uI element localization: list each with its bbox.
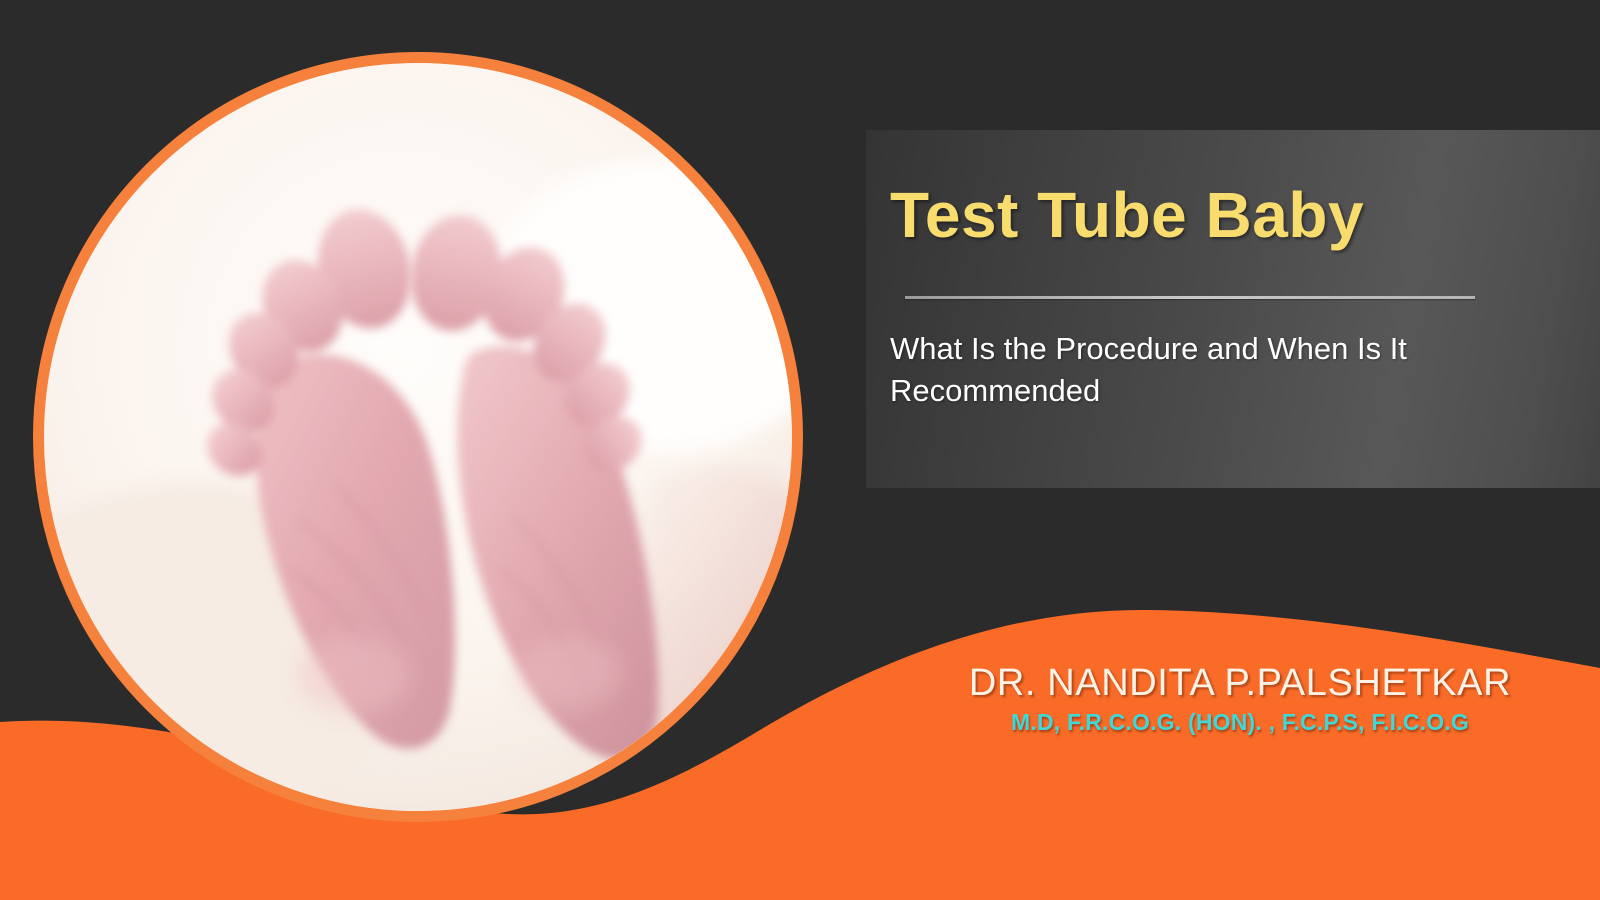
headline-panel: Test Tube Baby What Is the Procedure and…: [866, 130, 1600, 488]
promotional-banner: Test Tube Baby What Is the Procedure and…: [0, 0, 1600, 900]
doctor-degrees: M.D, F.R.C.O.G. (HON). , F.C.P.S, F.I.C.…: [940, 709, 1540, 736]
doctor-credit: DR. NANDITA P.PALSHETKAR M.D, F.R.C.O.G.…: [940, 662, 1540, 736]
title-divider: [905, 296, 1475, 299]
page-title: Test Tube Baby: [890, 178, 1364, 252]
baby-feet-photo-circle: [33, 52, 803, 822]
page-subtitle: What Is the Procedure and When Is It Rec…: [890, 328, 1490, 412]
photo-inner: [44, 63, 792, 811]
baby-feet-illustration: [44, 63, 792, 811]
doctor-name: DR. NANDITA P.PALSHETKAR: [940, 662, 1540, 705]
